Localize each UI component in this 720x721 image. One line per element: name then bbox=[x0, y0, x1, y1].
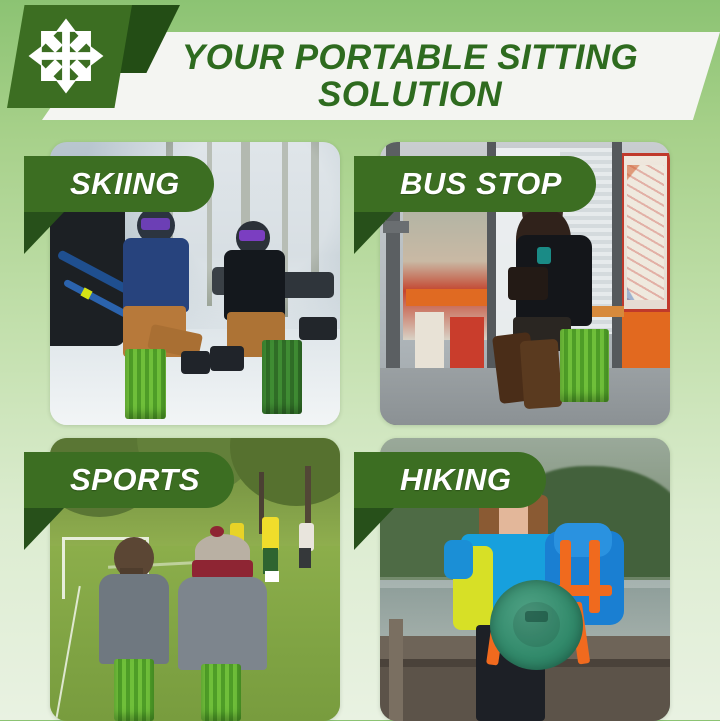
label-banner-hiking: HIKING bbox=[354, 452, 546, 508]
card-label-sports: SPORTS bbox=[70, 462, 200, 498]
page-title: YOUR PORTABLE SITTING SOLUTION bbox=[120, 34, 700, 118]
label-banner-bus-stop: BUS STOP bbox=[354, 156, 596, 212]
card-sports[interactable]: SPORTS bbox=[50, 438, 340, 721]
label-banner-skiing: SKIING bbox=[24, 156, 214, 212]
card-hiking[interactable]: HIKING bbox=[380, 438, 670, 721]
scene-card-grid: SKIING bbox=[0, 142, 720, 712]
move-arrows-icon bbox=[27, 17, 105, 95]
header-banner: YOUR PORTABLE SITTING SOLUTION bbox=[0, 0, 720, 135]
card-bus-stop[interactable]: BUS STOP bbox=[380, 142, 670, 425]
card-skiing[interactable]: SKIING bbox=[50, 142, 340, 425]
card-label-skiing: SKIING bbox=[70, 166, 180, 202]
card-label-hiking: HIKING bbox=[400, 462, 512, 498]
label-banner-sports: SPORTS bbox=[24, 452, 234, 508]
card-label-bus-stop: BUS STOP bbox=[400, 166, 562, 202]
